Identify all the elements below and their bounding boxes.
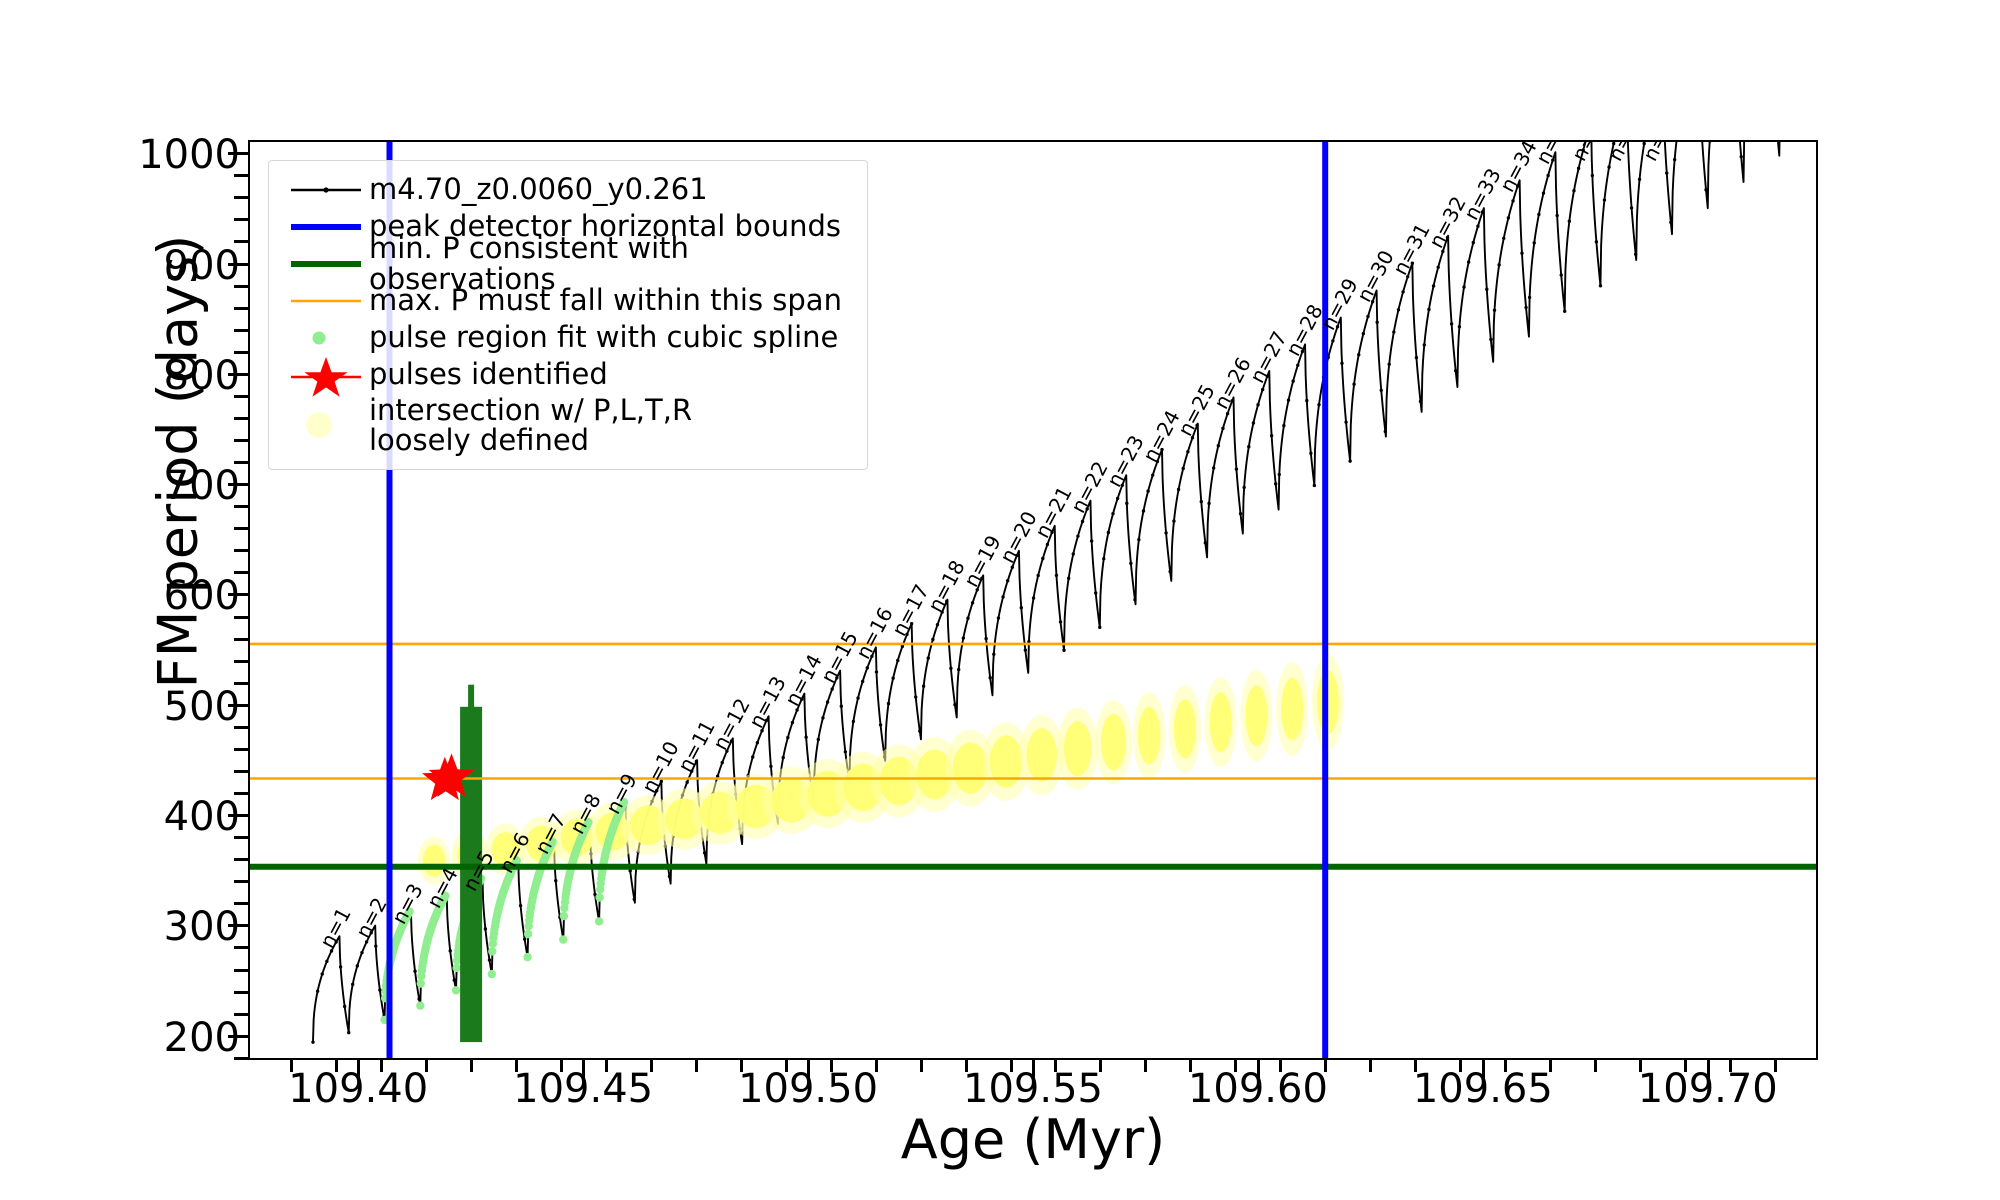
x-tick-minor: [425, 1060, 428, 1072]
y-tick-minor: [234, 616, 248, 619]
y-tick-minor: [234, 946, 248, 949]
y-tick-minor: [234, 792, 248, 795]
figure-root: FM period (days) Age (Myr) 2003004005006…: [0, 0, 2000, 1200]
y-tick-minor: [234, 682, 248, 685]
y-tick-minor: [234, 638, 248, 641]
x-tick-minor: [605, 1060, 608, 1072]
x-tick-minor: [1144, 1060, 1147, 1072]
x-tick-minor: [1010, 1060, 1013, 1072]
y-tick-label: 1000: [20, 132, 240, 178]
y-tick-minor: [234, 1013, 248, 1016]
x-tick-minor: [695, 1060, 698, 1072]
legend-item-min-p: min. P consistent with observations: [283, 245, 849, 282]
y-tick-label: 700: [20, 463, 240, 509]
x-tick-minor: [830, 1060, 833, 1072]
legend-key-line-marker-black: [283, 171, 369, 208]
y-tick-minor: [234, 836, 248, 839]
legend-label-intersection: intersection w/ P,L,T,R loosely defined: [369, 395, 692, 456]
y-tick-minor: [234, 439, 248, 442]
x-tick-minor: [920, 1060, 923, 1072]
y-tick-minor: [234, 880, 248, 883]
x-tick-label: 109.40: [248, 1066, 468, 1112]
y-tick-minor: [234, 527, 248, 530]
legend-key-dot-yellow: [283, 393, 369, 457]
legend-item-model: m4.70_z0.0060_y0.261: [283, 171, 849, 208]
legend-key-line-blue: [283, 208, 369, 245]
y-tick-minor: [234, 307, 248, 310]
y-tick-minor: [234, 417, 248, 420]
y-tick-minor: [234, 902, 248, 905]
y-tick-minor: [234, 196, 248, 199]
x-tick-label: 109.45: [473, 1066, 693, 1112]
x-tick-minor: [875, 1060, 878, 1072]
x-tick-minor: [1549, 1060, 1552, 1072]
y-tick-minor: [234, 351, 248, 354]
x-tick-minor: [1504, 1060, 1507, 1072]
y-tick-label: 800: [20, 353, 240, 399]
plot-area: n=1n=2n=3n=4n=5n=6n=7n=8n=9n=10n=11n=12n…: [248, 140, 1818, 1060]
x-tick-minor: [1189, 1060, 1192, 1072]
y-tick-minor: [234, 505, 248, 508]
x-tick-minor: [740, 1060, 743, 1072]
x-tick-minor: [380, 1060, 383, 1072]
y-tick-minor: [234, 240, 248, 243]
x-tick-minor: [1459, 1060, 1462, 1072]
legend-item-intersection: intersection w/ P,L,T,R loosely defined: [283, 393, 849, 457]
y-tick-minor: [234, 660, 248, 663]
legend-item-spline: pulse region fit with cubic spline: [283, 319, 849, 356]
x-tick-minor: [1054, 1060, 1057, 1072]
x-tick-minor: [1234, 1060, 1237, 1072]
y-tick-label: 200: [20, 1015, 240, 1061]
y-tick-label: 400: [20, 794, 240, 840]
x-axis-label: Age (Myr): [248, 1108, 1818, 1171]
legend-key-line-green: [283, 245, 369, 282]
x-tick-minor: [1369, 1060, 1372, 1072]
y-tick-label: 900: [20, 243, 240, 289]
legend-item-max-p: max. P must fall within this span: [283, 282, 849, 319]
x-tick-minor: [785, 1060, 788, 1072]
series-intersection-yellow: [418, 655, 1344, 885]
x-tick-label: 109.65: [1373, 1066, 1593, 1112]
legend-key-line-orange: [283, 282, 369, 319]
y-tick-minor: [234, 461, 248, 464]
x-tick-label: 109.50: [698, 1066, 918, 1112]
x-tick-minor: [470, 1060, 473, 1072]
x-tick-minor: [1099, 1060, 1102, 1072]
y-tick-label: 600: [20, 573, 240, 619]
x-tick-minor: [1684, 1060, 1687, 1072]
y-tick-minor: [234, 329, 248, 332]
x-tick-minor: [290, 1060, 293, 1072]
legend-key-dot-lightgreen: [283, 319, 369, 356]
y-tick-minor: [234, 571, 248, 574]
x-tick-label: 109.60: [1148, 1066, 1368, 1112]
y-tick-minor: [234, 748, 248, 751]
x-tick-minor: [1324, 1060, 1327, 1072]
x-tick-minor: [965, 1060, 968, 1072]
x-tick-minor: [1414, 1060, 1417, 1072]
y-tick-minor: [234, 770, 248, 773]
x-tick-minor: [1729, 1060, 1732, 1072]
x-tick-minor: [650, 1060, 653, 1072]
y-tick-minor: [234, 395, 248, 398]
x-tick-minor: [1594, 1060, 1597, 1072]
legend-label-model: m4.70_z0.0060_y0.261: [369, 174, 708, 204]
y-tick-minor: [234, 726, 248, 729]
legend-label-pulses: pulses identified: [369, 359, 608, 389]
x-tick-minor: [515, 1060, 518, 1072]
legend-label-spline: pulse region fit with cubic spline: [369, 322, 838, 352]
x-tick-minor: [335, 1060, 338, 1072]
y-tick-minor: [234, 549, 248, 552]
x-tick-label: 109.55: [923, 1066, 1143, 1112]
x-tick-minor: [560, 1060, 563, 1072]
y-tick-minor: [234, 969, 248, 972]
x-tick-label: 109.70: [1598, 1066, 1818, 1112]
legend: m4.70_z0.0060_y0.261 peak detector horiz…: [268, 160, 868, 470]
y-tick-minor: [234, 858, 248, 861]
x-tick-minor: [1639, 1060, 1642, 1072]
y-tick-label: 500: [20, 684, 240, 730]
y-tick-minor: [234, 285, 248, 288]
legend-label-max-p: max. P must fall within this span: [369, 285, 842, 315]
y-tick-label: 300: [20, 904, 240, 950]
y-tick-minor: [234, 218, 248, 221]
x-tick-minor: [1774, 1060, 1777, 1072]
y-tick-minor: [234, 1057, 248, 1060]
x-tick-minor: [1279, 1060, 1282, 1072]
y-tick-minor: [234, 991, 248, 994]
y-tick-minor: [234, 174, 248, 177]
legend-item-pulses: pulses identified: [283, 356, 849, 393]
legend-key-star-red: [283, 356, 369, 393]
